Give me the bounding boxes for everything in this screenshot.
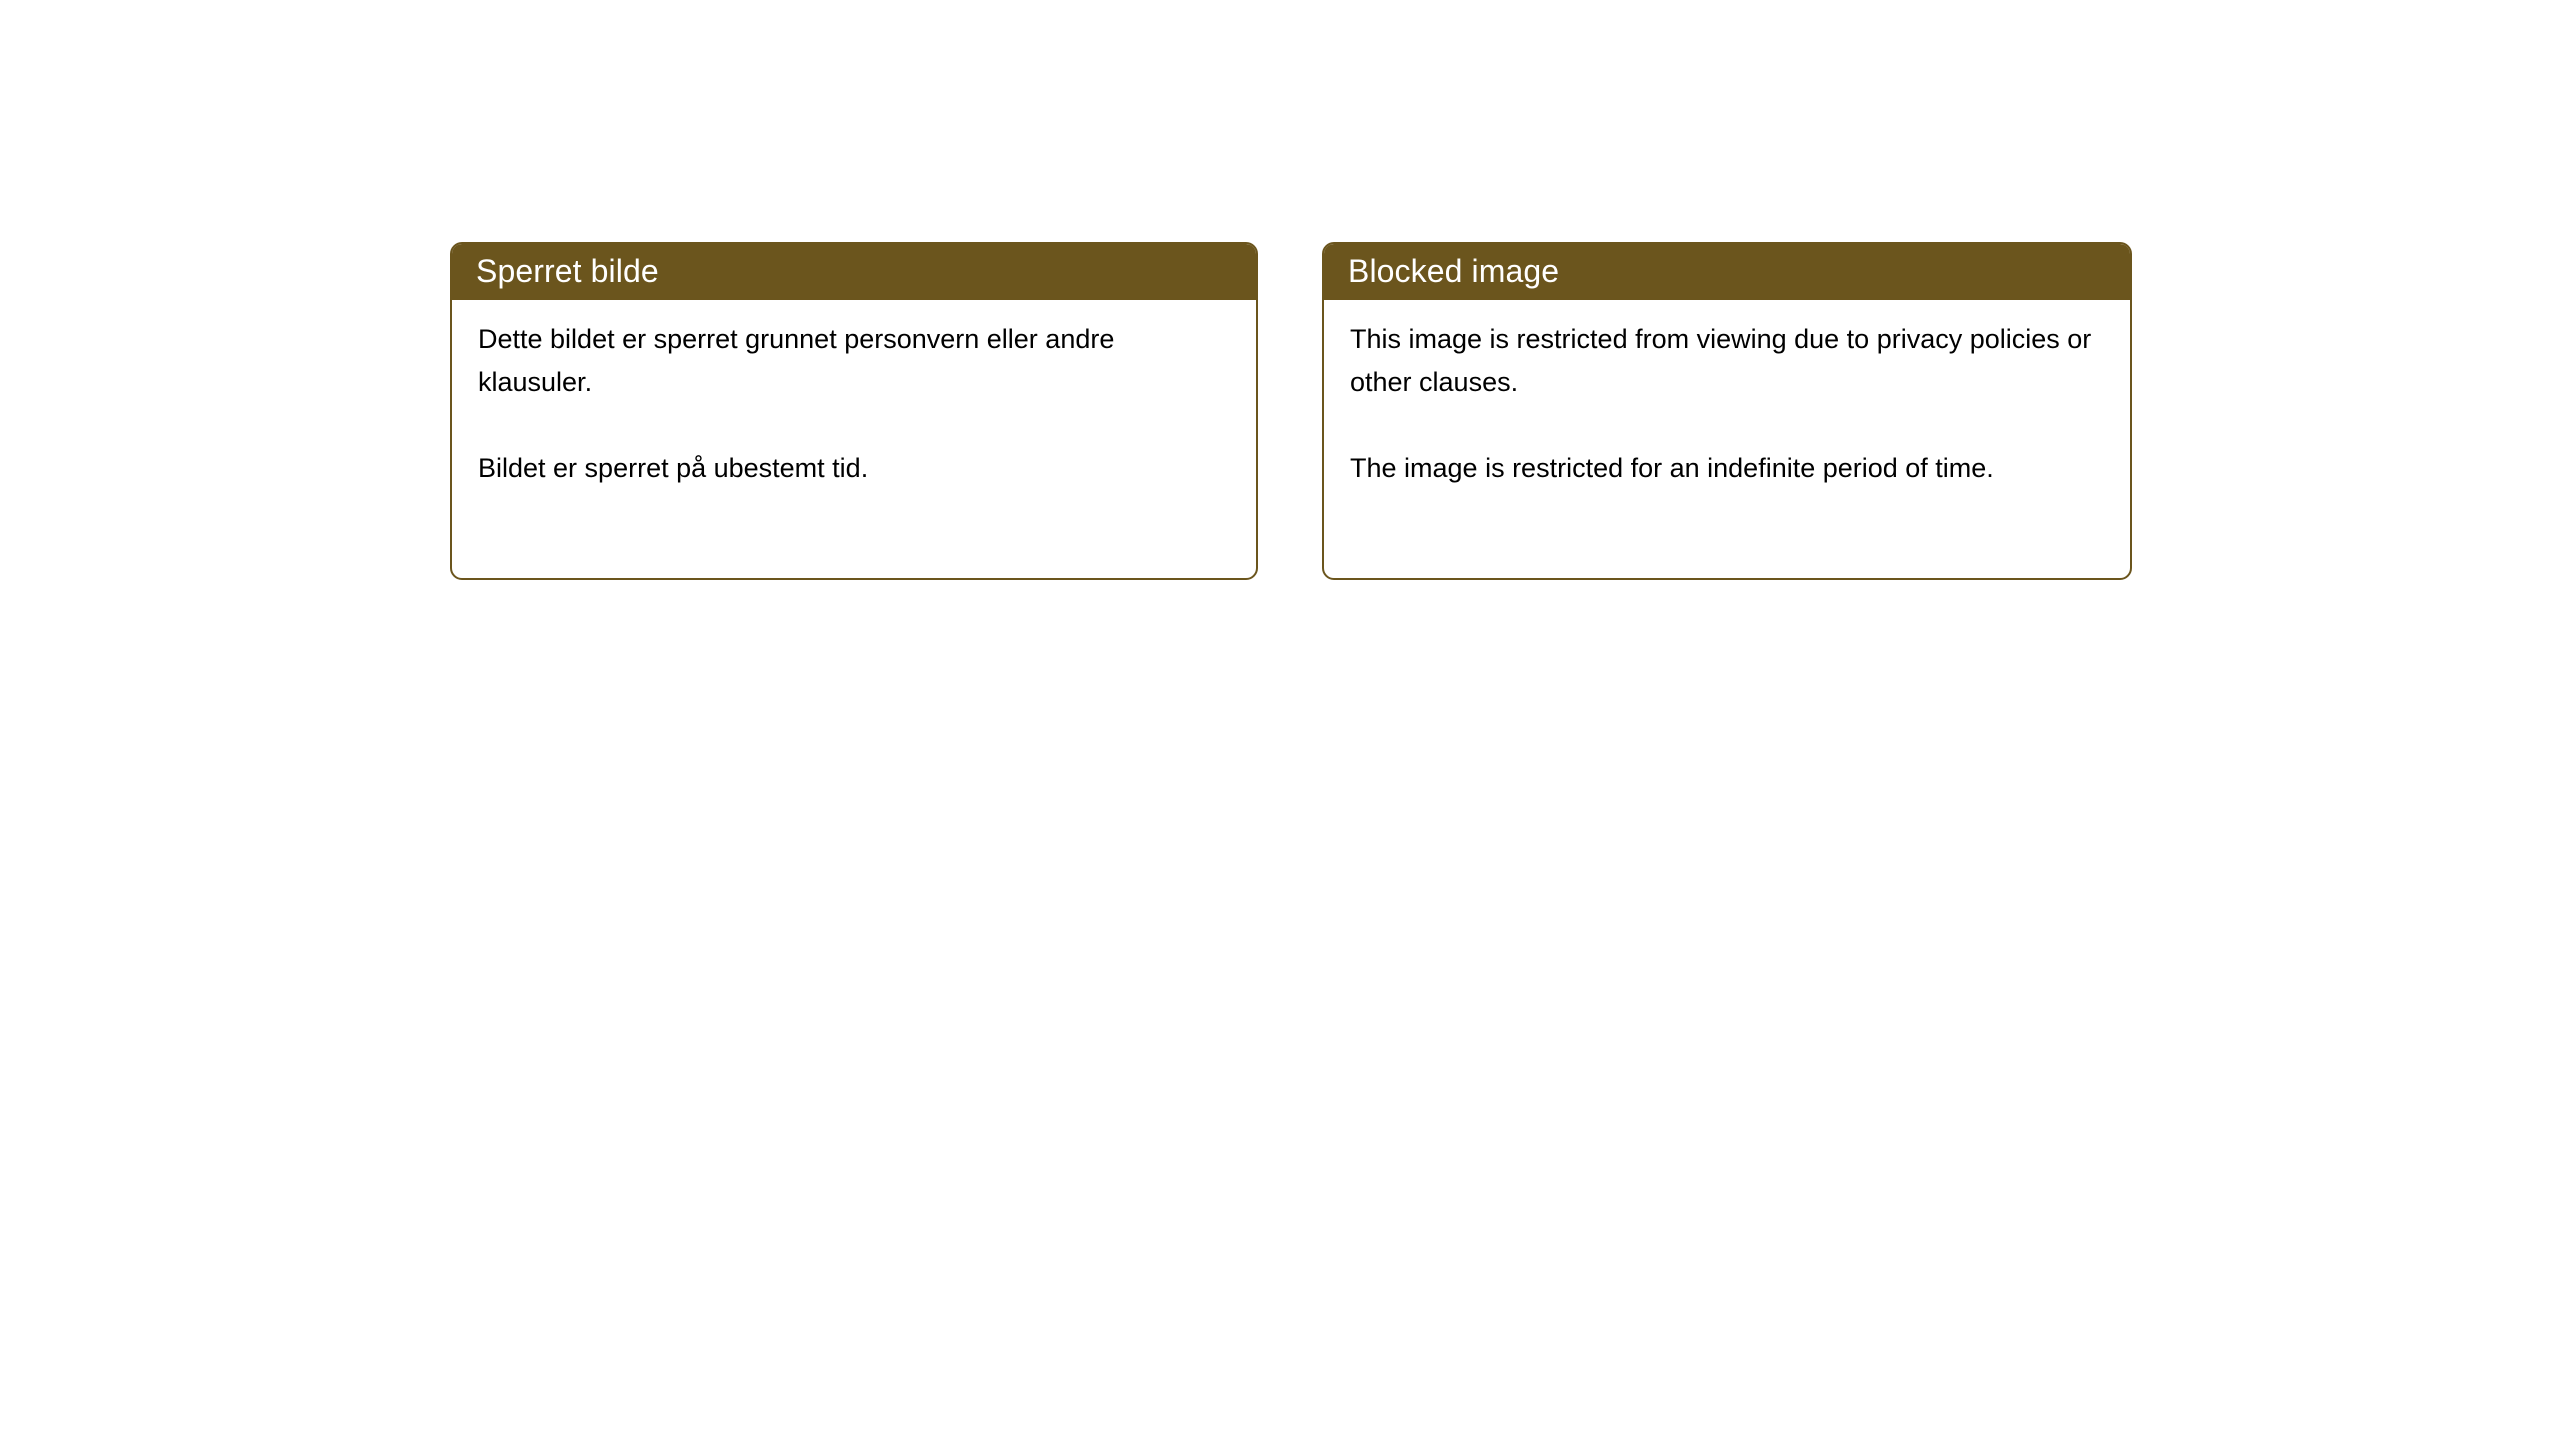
card-title-english: Blocked image bbox=[1348, 255, 1559, 287]
blocked-image-notice-area: Sperret bilde Dette bildet er sperret gr… bbox=[0, 0, 2560, 1440]
card-paragraph-secondary-norwegian: Bildet er sperret på ubestemt tid. bbox=[478, 447, 1232, 490]
blocked-image-card-norwegian: Sperret bilde Dette bildet er sperret gr… bbox=[450, 242, 1258, 580]
card-header-english: Blocked image bbox=[1322, 242, 2132, 300]
card-body-norwegian: Dette bildet er sperret grunnet personve… bbox=[452, 300, 1256, 490]
paragraph-spacer-norwegian bbox=[478, 404, 1232, 447]
blocked-image-card-english: Blocked image This image is restricted f… bbox=[1322, 242, 2132, 580]
card-paragraph-primary-norwegian: Dette bildet er sperret grunnet personve… bbox=[478, 318, 1232, 404]
card-paragraph-secondary-english: The image is restricted for an indefinit… bbox=[1350, 447, 2106, 490]
paragraph-spacer-english bbox=[1350, 404, 2106, 447]
card-body-english: This image is restricted from viewing du… bbox=[1324, 300, 2130, 490]
card-paragraph-primary-english: This image is restricted from viewing du… bbox=[1350, 318, 2106, 404]
card-header-norwegian: Sperret bilde bbox=[450, 242, 1258, 300]
card-title-norwegian: Sperret bilde bbox=[476, 255, 659, 287]
